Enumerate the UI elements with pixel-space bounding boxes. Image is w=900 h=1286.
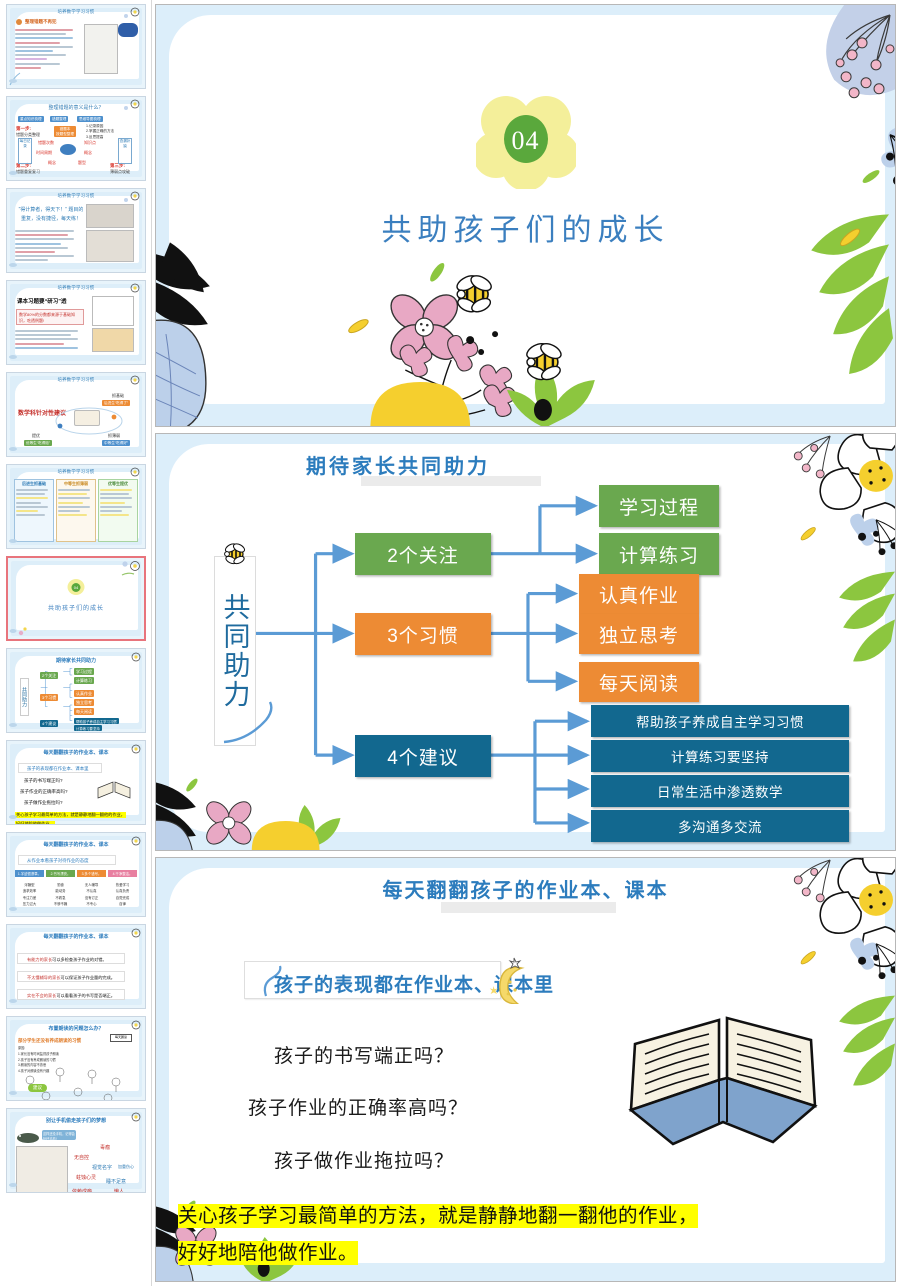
slide-thumbnail-7-selected[interactable]: 04 共助孩子们的成长 [6, 556, 146, 641]
title-underline-bar [441, 902, 616, 913]
leaf-decor-icon [8, 989, 28, 1007]
section-number-badge: 04 [476, 93, 576, 189]
mindmap-branch-label: 3个习惯 [387, 621, 459, 648]
flower-decor-icon [121, 375, 143, 393]
thumbnail-body: 课本习题要“研习”透 数学80%的分数都来源于基础知识，吃透例题! 数学 [14, 292, 138, 358]
slide-section-cover[interactable]: 04 共助孩子们的成长 [155, 4, 896, 427]
flower-decor-icon [121, 927, 143, 945]
leaf-decor-icon [8, 1173, 28, 1191]
flower-decor-icon [121, 7, 143, 25]
thumbnail-title: 共助孩子们的成长 [15, 603, 137, 612]
flower-decor-icon [121, 191, 143, 209]
slide-title: 每天翻翻孩子的作业本、课本 [156, 874, 895, 903]
mindmap-leaf-label: 多沟通多交流 [678, 816, 762, 836]
slide-thumbnail-8[interactable]: 期待家长共同助力 共同助力 2个关注 3个习惯 4个建议 学习过程 计算练习 认… [6, 648, 146, 733]
highlight-line-2: 好好地陪他做作业。 [178, 1236, 358, 1265]
thumbnail-body: 别让手机偷走孩子们的梦想 这样还没手机，记得会玩坏手机! 毒瘤 无自控 视觉名字… [14, 1120, 138, 1186]
mindmap-leaf-label: 计算练习 [619, 541, 699, 568]
flower-decor-icon [121, 467, 143, 485]
flower-decor-icon [121, 1019, 143, 1037]
slide-thumbnail-10[interactable]: 每天翻翻孩子的作业本、课本 从作业本看孩子对待作业的态度 1.字迹很潦草。 2.… [6, 832, 146, 917]
slide-thumbnail-5[interactable]: 培养数学学习习惯 数学科针对性建议 后进生“吃得了” 抓基础 优等生“吃得饱” … [6, 372, 146, 457]
flower-decor-icon [121, 651, 143, 669]
highlight-text: 好好地陪他做作业。 [178, 1241, 358, 1265]
question-2: 孩子作业的正确率高吗？ [248, 1093, 468, 1120]
mindmap-branch-3[interactable]: 4个建议 [355, 735, 491, 777]
thumbnail-title: 课本习题要“研习”透 [17, 297, 67, 305]
question-1: 孩子的书写端正吗？ [274, 1041, 454, 1068]
mindmap-leaf-label: 每天阅读 [599, 669, 679, 696]
question-3: 孩子做作业拖拉吗？ [274, 1146, 454, 1173]
flower-decor-icon [121, 99, 143, 117]
mindmap-leaf-2-3[interactable]: 每天阅读 [579, 662, 699, 702]
flower-decor-icon [121, 743, 143, 761]
leaf-decor-icon [8, 69, 28, 87]
thumbnail-title: 每天翻翻孩子的作业本、课本 [14, 749, 138, 756]
slide-thumbnail-4[interactable]: 培养数学学习习惯 课本习题要“研习”透 数学80%的分数都来源于基础知识，吃透例… [6, 280, 146, 365]
mindmap-leaf-label: 帮助孩子养成自主学习习惯 [636, 711, 804, 731]
leaf-decor-icon [8, 529, 28, 547]
leaf-decor-icon [8, 345, 28, 363]
flower-decor-icon [120, 560, 142, 578]
flower-decor-icon [9, 620, 29, 638]
leaf-decor-icon [8, 1081, 28, 1099]
thumbnail-title: 每天翻翻孩子的作业本、课本 [14, 933, 138, 940]
slide-thumbnail-3[interactable]: 培养数学学习习惯 “得计算者，得天下！” 题目的重复，没有捷径，每天练！ VS [6, 188, 146, 273]
thumbnail-body: 布置朗读的问题怎么办？ 部分学生还没有养成朗读的习惯 原因:1.家长没有时间监督… [14, 1028, 138, 1094]
thumbnail-body: 每天翻翻孩子的作业本、课本 孩子的表现都在作业本、课本里 孩子的书写端正吗? 孩… [14, 752, 138, 818]
mindmap-root-label: 共同助力 [216, 593, 255, 709]
slide-thumbnail-11[interactable]: 每天翻翻孩子的作业本、课本 有能力的家长可以多检查孩子作业的对错。 不太懂辅导的… [6, 924, 146, 1009]
slide-thumbnail-6[interactable]: 培养数学学习习惯 后进生抓基础 中等生抓薄弱 优等生提优 [6, 464, 146, 549]
leaf-decor-icon [8, 437, 28, 455]
thumbnail-title: 布置朗读的问题怎么办？ [14, 1025, 138, 1032]
slide-homework-check[interactable]: 每天翻翻孩子的作业本、课本 孩子的表现都在作业本、课本里 孩子的书写端正吗？ 孩… [155, 857, 896, 1282]
mindmap-leaf-label: 日常生活中渗透数学 [657, 781, 783, 801]
flower-decor-icon [121, 835, 143, 853]
slide-thumbnail-12[interactable]: 布置朗读的问题怎么办？ 部分学生还没有养成朗读的习惯 原因:1.家长没有时间监督… [6, 1016, 146, 1101]
mindmap-leaf-3-2[interactable]: 计算练习要坚持 [591, 740, 849, 772]
slide-thumbnail-1[interactable]: 培养数学学习习惯 整理错题不再犯 [6, 4, 146, 89]
slide-thumbnail-13[interactable]: 别让手机偷走孩子们的梦想 这样还没手机，记得会玩坏手机! 毒瘤 无自控 视觉名字… [6, 1108, 146, 1193]
slide-thumbnail-panel[interactable]: 培养数学学习习惯 整理错题不再犯 [0, 0, 152, 1286]
mindmap-branch-label: 4个建议 [387, 743, 459, 770]
thumbnail-badge: 04 [72, 583, 81, 592]
thumbnail-body: “得计算者，得天下！” 题目的重复，没有捷径，每天练！ VS [14, 200, 138, 266]
slide-mindmap[interactable]: 期待家长共同助力 [155, 433, 896, 850]
thumbnail-body: 每天翻翻孩子的作业本、课本 有能力的家长可以多检查孩子作业的对错。 不太懂辅导的… [14, 936, 138, 1002]
slide-thumbnail-2[interactable]: 整理错题的意义是什么？ 重点知识梳理 错题整理 思维导图梳理 第一步: 错题分类… [6, 96, 146, 181]
mindmap-branch-1[interactable]: 2个关注 [355, 533, 491, 575]
thumbnail-body: 每天翻翻孩子的作业本、课本 从作业本看孩子对待作业的态度 1.字迹很潦草。 2.… [14, 844, 138, 910]
thumbnail-body: 整理错题的意义是什么？ 重点知识梳理 错题整理 思维导图梳理 第一步: 错题分类… [14, 108, 138, 174]
mindmap-leaf-1-1[interactable]: 学习过程 [599, 485, 719, 527]
thumbnail-title: 别让手机偷走孩子们的梦想 [14, 1117, 138, 1124]
mindmap-branch-label: 2个关注 [387, 541, 459, 568]
mindmap-leaf-label: 认真作业 [599, 581, 679, 608]
flower-decor-icon [121, 283, 143, 301]
thumbnail-body: 04 共助孩子们的成长 [15, 569, 137, 633]
bee-icon [218, 539, 252, 565]
mindmap-branch-2[interactable]: 3个习惯 [355, 613, 491, 655]
thumbnail-body: 期待家长共同助力 共同助力 2个关注 3个习惯 4个建议 学习过程 计算练习 认… [14, 660, 138, 726]
thumbnail-subtitle: 从作业本看孩子对待作业的态度 [18, 855, 116, 865]
slide-title: 期待家长共同助力 [306, 450, 490, 479]
mindmap-leaf-label: 学习过程 [619, 493, 699, 520]
moon-icon [486, 956, 532, 1004]
leaf-decor-icon [8, 713, 28, 731]
thumbnail-title: “得计算者，得天下！” 题目的重复，没有捷径，每天练！ [18, 206, 84, 223]
section-title: 共助孩子们的成长 [156, 205, 895, 249]
highlight-text: 关心孩子学习最简单的方法，就是静静地翻一翻他的作业， [178, 1204, 698, 1228]
mindmap-leaf-label: 计算练习要坚持 [671, 746, 769, 766]
mindmap-leaf-2-1[interactable]: 认真作业 [579, 574, 699, 614]
thumbnail-body: 整理错题不再犯 [14, 16, 138, 82]
mindmap-leaf-1-2[interactable]: 计算练习 [599, 533, 719, 575]
flower-decor-icon [121, 1111, 143, 1129]
blue-flourish-icon [218, 696, 288, 748]
thumbnail-body: 后进生抓基础 中等生抓薄弱 优等生提优 [14, 476, 138, 542]
presentation-editor: 培养数学学习习惯 整理错题不再犯 [0, 0, 900, 1286]
thumbnail-title: 每天翻翻孩子的作业本、课本 [14, 841, 138, 848]
thumbnail-body: 数学科针对性建议 后进生“吃得了” 抓基础 优等生“吃得饱” 提优 中等生“吃得… [14, 384, 138, 450]
mindmap-leaf-2-2[interactable]: 独立思考 [579, 614, 699, 654]
thumbnail-title: 整理错题不再犯 [25, 19, 57, 25]
highlight-line-1: 关心孩子学习最简单的方法，就是静静地翻一翻他的作业， [178, 1199, 698, 1228]
leaf-decor-icon [8, 161, 28, 179]
open-book-icon [623, 998, 823, 1153]
black-sprig-icon [890, 135, 895, 177]
mindmap-leaf-3-3[interactable]: 日常生活中渗透数学 [591, 775, 849, 807]
mindmap-leaf-label: 独立思考 [599, 621, 679, 648]
thumbnail-title: 整理错题的意义是什么？ [14, 104, 138, 111]
leaf-decor-icon [8, 805, 28, 823]
section-number: 04 [512, 126, 540, 156]
leaf-decor-icon [8, 897, 28, 915]
leaf-decor-icon [8, 253, 28, 271]
slide-thumbnail-9[interactable]: 每天翻翻孩子的作业本、课本 孩子的表现都在作业本、课本里 孩子的书写端正吗? 孩… [6, 740, 146, 825]
mindmap-leaf-3-1[interactable]: 帮助孩子养成自主学习习惯 [591, 705, 849, 737]
mindmap-leaf-3-4[interactable]: 多沟通多交流 [591, 810, 849, 842]
slide-viewer: 04 共助孩子们的成长 [152, 0, 900, 1286]
